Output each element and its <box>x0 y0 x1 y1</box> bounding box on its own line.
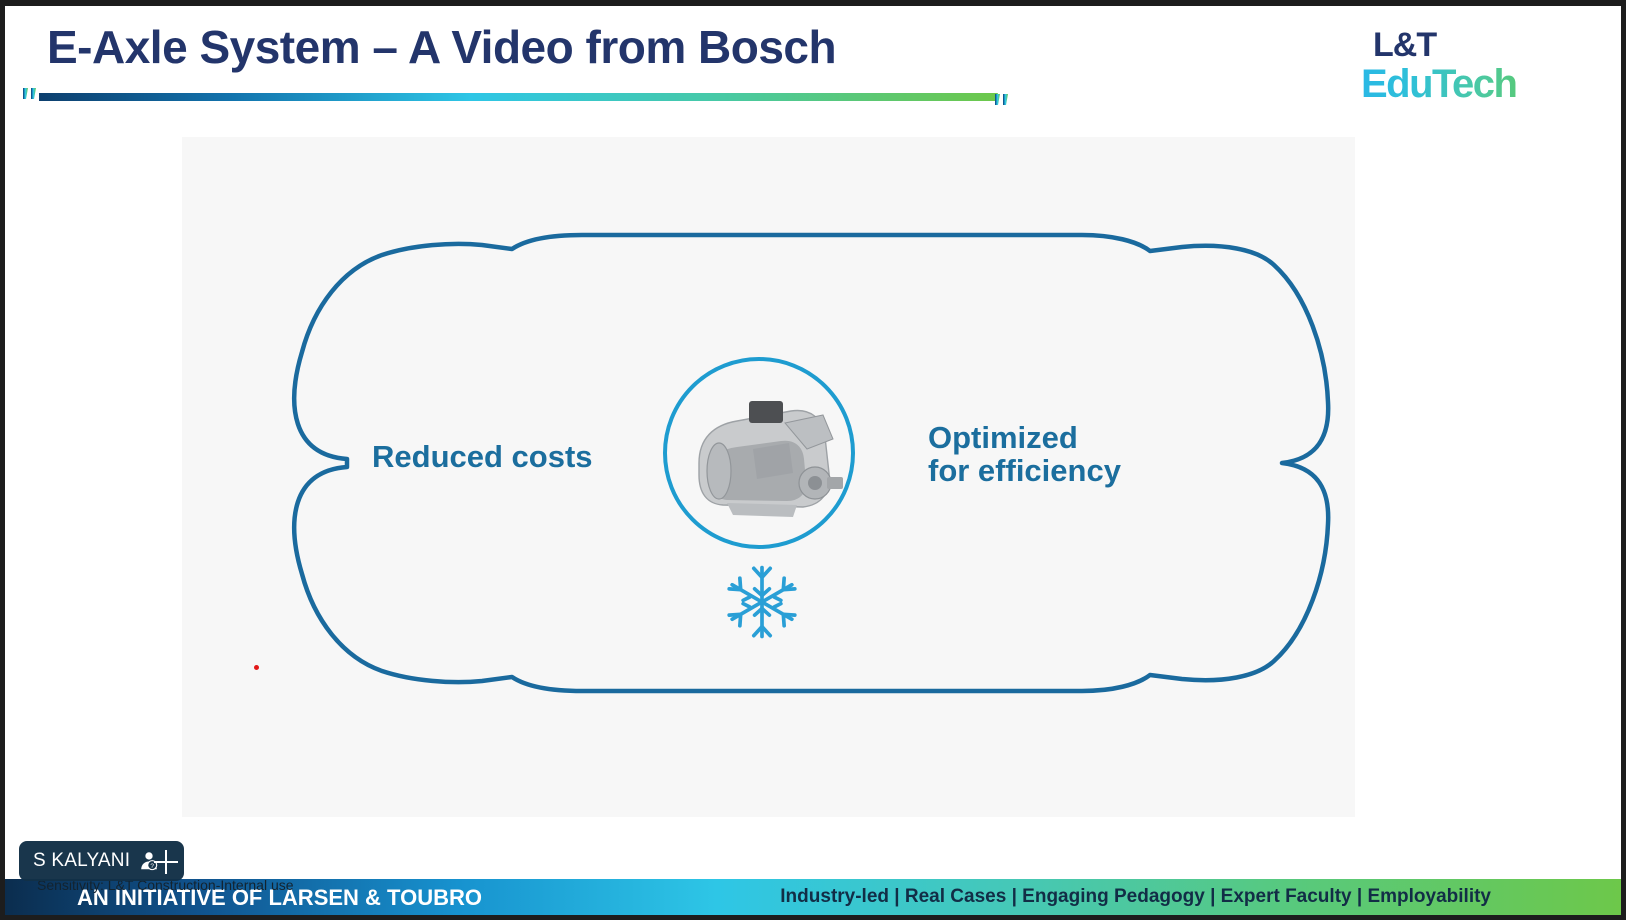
presenter-name-label: S KALYANI <box>33 850 130 872</box>
person-avatar-icon: ? <box>138 850 160 872</box>
slide-canvas: E-Axle System – A Video from Bosch <box>5 6 1621 915</box>
eaxle-module-circle <box>657 353 862 553</box>
title-underline-rule <box>23 88 1013 105</box>
logo-secondary-text: EduTech <box>1361 64 1561 104</box>
presenter-name-chip[interactable]: S KALYANI ? <box>19 841 184 881</box>
footer-tagline-right: Industry-led | Real Cases | Engaging Ped… <box>780 886 1491 908</box>
svg-text:?: ? <box>151 863 155 870</box>
logo-primary-text: L&T <box>1373 28 1561 62</box>
video-player-panel[interactable]: Reduced costs Optimized for efficiency <box>182 137 1355 817</box>
label-optimized-efficiency: Optimized for efficiency <box>928 422 1121 488</box>
eaxle-module-graphic <box>699 401 843 517</box>
laser-pointer-dot <box>254 665 259 670</box>
label-optimized-line1: Optimized <box>928 422 1121 455</box>
video-frame: Reduced costs Optimized for efficiency <box>182 137 1355 817</box>
label-optimized-line2: for efficiency <box>928 455 1121 488</box>
label-reduced-costs: Reduced costs <box>372 439 593 475</box>
presentation-window: E-Axle System – A Video from Bosch <box>0 0 1626 920</box>
snowflake-icon <box>721 561 803 643</box>
page-title: E-Axle System – A Video from Bosch <box>47 20 836 74</box>
lt-edutech-logo: L&T EduTech <box>1361 28 1561 104</box>
